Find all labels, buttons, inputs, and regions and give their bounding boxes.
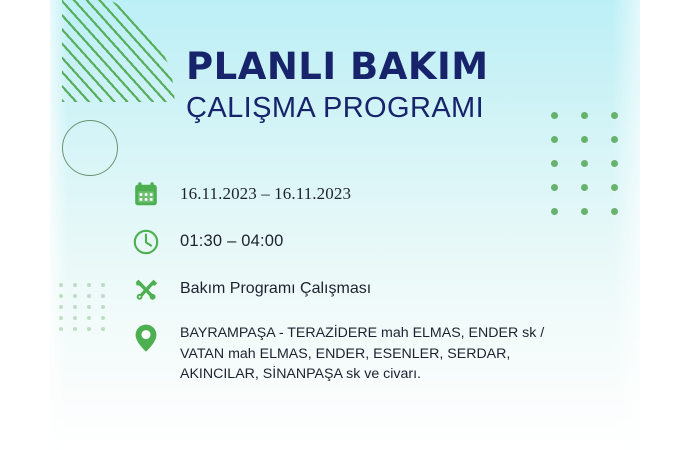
background-fade-bottom <box>0 380 690 450</box>
info-list: 16.11.2023 – 16.11.2023 01:30 – 04:00 <box>130 178 650 385</box>
dot <box>581 160 588 167</box>
dot <box>73 305 77 309</box>
dot <box>73 327 77 331</box>
dot <box>551 136 558 143</box>
dot <box>101 316 105 320</box>
info-row-time: 01:30 – 04:00 <box>130 226 650 258</box>
dot <box>101 294 105 298</box>
dot <box>101 305 105 309</box>
dot <box>611 136 618 143</box>
clock-icon <box>130 226 162 258</box>
dot <box>73 283 77 287</box>
info-row-time-text: 01:30 – 04:00 <box>180 226 284 253</box>
calendar-icon <box>130 178 162 210</box>
dot <box>87 283 91 287</box>
info-row-program-text: Bakım Programı Çalışması <box>180 274 371 301</box>
dot <box>87 294 91 298</box>
dot <box>59 316 63 320</box>
page-subtitle: ÇALIŞMA PROGRAMI <box>186 93 606 123</box>
location-pin-icon <box>130 322 162 354</box>
dot <box>581 136 588 143</box>
info-row-date-text: 16.11.2023 – 16.11.2023 <box>180 178 351 206</box>
info-row-location-text: BAYRAMPAŞA - TERAZİDERE mah ELMAS, ENDER… <box>180 322 544 385</box>
dot <box>611 112 618 119</box>
dot <box>59 283 63 287</box>
circle-outline-decoration <box>62 120 118 176</box>
tools-icon <box>130 274 162 306</box>
dot <box>551 160 558 167</box>
dot <box>101 327 105 331</box>
dot <box>59 294 63 298</box>
maintenance-schedule-poster: PLANLI BAKIM ÇALIŞMA PROGRAMI 16.11 <box>0 0 690 450</box>
dot <box>59 327 63 331</box>
dot <box>59 305 63 309</box>
dot-grid-left-decoration <box>59 283 115 338</box>
page-title: PLANLI BAKIM <box>186 48 606 87</box>
dot <box>87 327 91 331</box>
info-row-program: Bakım Programı Çalışması <box>130 274 650 306</box>
dot <box>611 160 618 167</box>
dot <box>87 305 91 309</box>
info-row-date: 16.11.2023 – 16.11.2023 <box>130 178 650 210</box>
dot <box>73 316 77 320</box>
diagonal-stripes-decoration <box>62 0 180 102</box>
info-row-location: BAYRAMPAŞA - TERAZİDERE mah ELMAS, ENDER… <box>130 322 650 385</box>
title-block: PLANLI BAKIM ÇALIŞMA PROGRAMI <box>186 48 606 123</box>
dot <box>101 283 105 287</box>
dot <box>73 294 77 298</box>
dot <box>87 316 91 320</box>
